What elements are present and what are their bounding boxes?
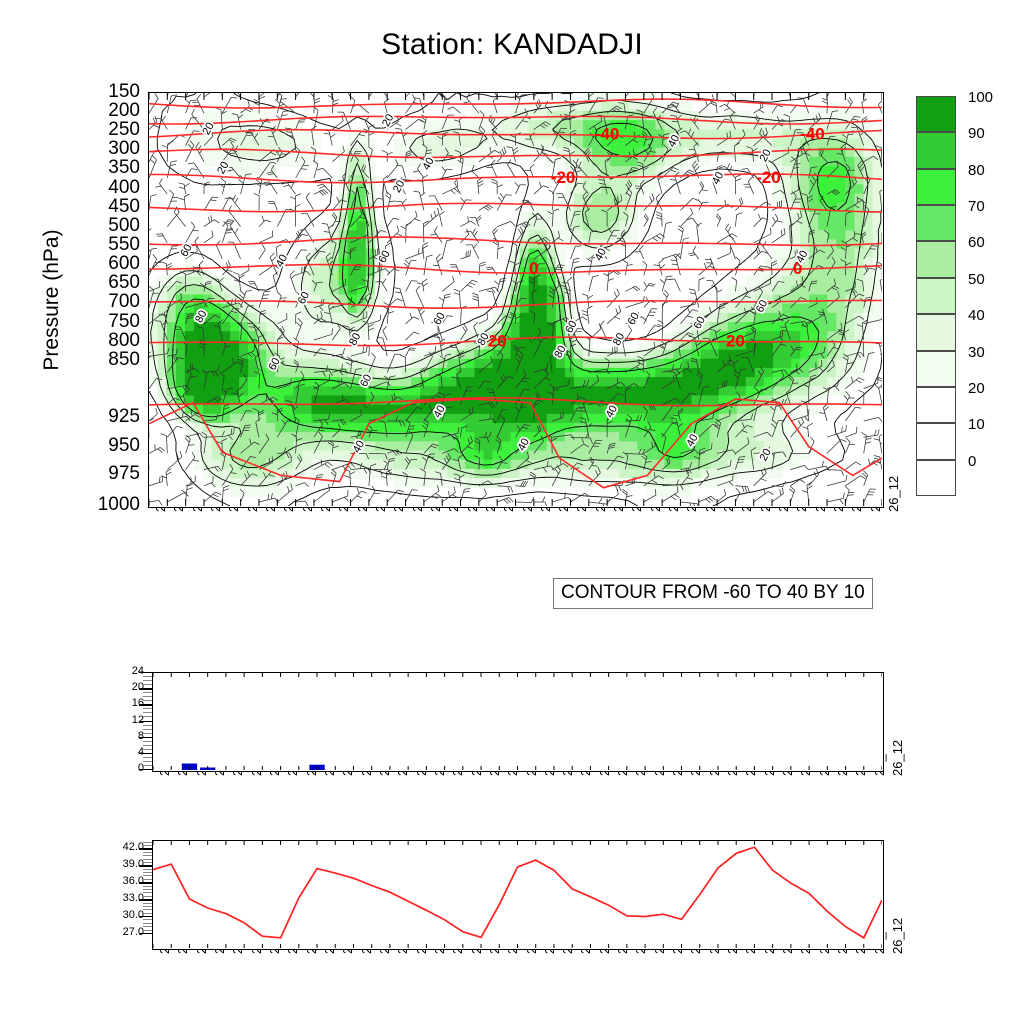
temp-minor-tick	[143, 862, 152, 863]
temp-minor-tick	[143, 859, 152, 860]
page-title: Station: KANDADJI	[0, 28, 1024, 62]
rain-minor-tick	[143, 733, 152, 734]
main-y-tick: 450	[20, 197, 140, 216]
main-y-tick: 300	[20, 139, 140, 158]
rain-major-tick	[139, 704, 152, 705]
temp-major-tick	[139, 916, 152, 917]
temp-y-tick: 27.0	[84, 927, 144, 938]
temp-minor-tick	[143, 926, 152, 927]
rain-minor-tick	[143, 708, 152, 709]
colorbar-tick-label: 70	[968, 199, 985, 214]
colorbar-cell	[916, 132, 956, 168]
rain-minor-tick	[143, 680, 152, 681]
temp-major-tick	[139, 933, 152, 934]
temp-minor-tick	[143, 852, 152, 853]
temp-minor-tick	[143, 923, 152, 924]
rain-y-tick: 8	[84, 731, 144, 742]
main-y-tick: 250	[20, 120, 140, 139]
temp-y-tick: 42.0	[84, 842, 144, 853]
rain-bars	[153, 673, 882, 770]
rain-major-tick	[139, 769, 152, 770]
x-tick-label: 26_12	[886, 476, 901, 512]
colorbar-cell	[916, 351, 956, 387]
colorbar-cell	[916, 314, 956, 350]
rain-plot-area	[152, 672, 884, 772]
temp-minor-tick	[143, 909, 152, 910]
temp-minor-tick	[143, 919, 152, 920]
colorbar-cell	[916, 423, 956, 459]
colorbar-cell	[916, 460, 956, 496]
colorbar-cell	[916, 387, 956, 423]
rain-major-tick	[139, 753, 152, 754]
rain-minor-tick	[143, 696, 152, 697]
contour-annotation: CONTOUR FROM -60 TO 40 BY 10	[553, 578, 873, 609]
temp-minor-tick	[143, 879, 152, 880]
rain-minor-tick	[143, 725, 152, 726]
temp-minor-tick	[143, 896, 152, 897]
main-y-tick: 500	[20, 216, 140, 235]
colorbar-cell	[916, 205, 956, 241]
temp-major-tick	[139, 899, 152, 900]
rain-y-tick: 20	[84, 682, 144, 693]
colorbar-cell	[916, 241, 956, 277]
main-y-tick: 1000	[20, 495, 140, 514]
temp-minor-tick	[143, 886, 152, 887]
main-y-tick: 925	[20, 407, 140, 426]
main-y-tick: 975	[20, 464, 140, 483]
rain-minor-tick	[143, 741, 152, 742]
temp-minor-tick	[143, 869, 152, 870]
main-y-tick: 550	[20, 235, 140, 254]
temp-minor-tick	[143, 892, 152, 893]
rain-minor-tick	[143, 745, 152, 746]
rain-major-tick	[139, 672, 152, 673]
main-y-tick: 200	[20, 101, 140, 120]
colorbar-tick-label: 0	[968, 454, 976, 469]
x-tick-label: 26_12	[890, 740, 905, 776]
colorbar-cell	[916, 96, 956, 132]
temp-y-tick: 30.0	[84, 910, 144, 921]
rain-minor-tick	[143, 761, 152, 762]
rain-panel: 3hr rain total 04812162024 21_1221_1521_…	[152, 672, 884, 772]
rain-y-tick: 12	[84, 715, 144, 726]
rain-minor-tick	[143, 700, 152, 701]
colorbar-tick-label: 50	[968, 272, 985, 287]
temp-minor-tick	[143, 872, 152, 873]
main-y-tick: 400	[20, 178, 140, 197]
colorbar: 0102030405060708090100	[916, 96, 956, 496]
rain-minor-tick	[143, 684, 152, 685]
rain-y-tick: 4	[84, 747, 144, 758]
temp-panel: Temp at 2m 27.030.033.036.039.042.0 21_1…	[152, 840, 884, 950]
temp-minor-tick	[143, 875, 152, 876]
temp-plot-area	[152, 840, 884, 950]
colorbar-cell	[916, 169, 956, 205]
rain-major-tick	[139, 737, 152, 738]
main-y-tick: 800	[20, 331, 140, 350]
temp-minor-tick	[143, 906, 152, 907]
main-y-tick: 350	[20, 158, 140, 177]
temp-y-tick: 39.0	[84, 859, 144, 870]
temp-minor-tick	[143, 889, 152, 890]
rain-minor-tick	[143, 676, 152, 677]
rain-y-tick: 16	[84, 698, 144, 709]
temp-major-tick	[139, 848, 152, 849]
main-y-tick: 950	[20, 436, 140, 455]
rain-minor-tick	[143, 716, 152, 717]
main-y-tick: 750	[20, 312, 140, 331]
rain-major-tick	[139, 721, 152, 722]
colorbar-tick-label: 40	[968, 308, 985, 323]
temp-y-tick: 36.0	[84, 876, 144, 887]
main-y-tick: 650	[20, 273, 140, 292]
main-y-tick: 600	[20, 254, 140, 273]
temp-line	[153, 841, 882, 948]
colorbar-tick-label: 80	[968, 163, 985, 178]
temp-minor-tick	[143, 913, 152, 914]
rain-minor-tick	[143, 692, 152, 693]
temp-minor-tick	[143, 930, 152, 931]
colorbar-tick-label: 90	[968, 126, 985, 141]
cross-section-panel: Pressure (hPa) 1502002503003504004505005…	[148, 92, 884, 508]
rain-minor-tick	[143, 757, 152, 758]
temp-minor-tick	[143, 903, 152, 904]
main-y-tick: 850	[20, 350, 140, 369]
cross-section-graphics: -40-40-20-200020202020202040404040202020…	[149, 93, 882, 506]
colorbar-tick-label: 60	[968, 235, 985, 250]
colorbar-tick-label: 10	[968, 417, 985, 432]
temp-minor-tick	[143, 845, 152, 846]
colorbar-cell	[916, 278, 956, 314]
temp-minor-tick	[143, 842, 152, 843]
cross-section-plot-area: -40-40-20-200020202020202040404040202020…	[148, 92, 884, 508]
temp-minor-tick	[143, 855, 152, 856]
colorbar-tick-label: 100	[968, 90, 993, 105]
colorbar-tick-label: 20	[968, 381, 985, 396]
main-y-tick: 150	[20, 82, 140, 101]
main-y-tick: 700	[20, 292, 140, 311]
rain-minor-tick	[143, 749, 152, 750]
temp-major-tick	[139, 865, 152, 866]
colorbar-tick-label: 30	[968, 345, 985, 360]
rain-minor-tick	[143, 765, 152, 766]
temp-major-tick	[139, 882, 152, 883]
temp-y-tick: 33.0	[84, 893, 144, 904]
chart-page: Station: KANDADJI Pressure (hPa) 1502002…	[0, 0, 1024, 1024]
rain-minor-tick	[143, 712, 152, 713]
rain-major-tick	[139, 688, 152, 689]
rain-minor-tick	[143, 729, 152, 730]
rain-y-tick: 24	[84, 666, 144, 677]
x-tick-label: 26_12	[890, 918, 905, 954]
rain-y-tick: 0	[84, 763, 144, 774]
